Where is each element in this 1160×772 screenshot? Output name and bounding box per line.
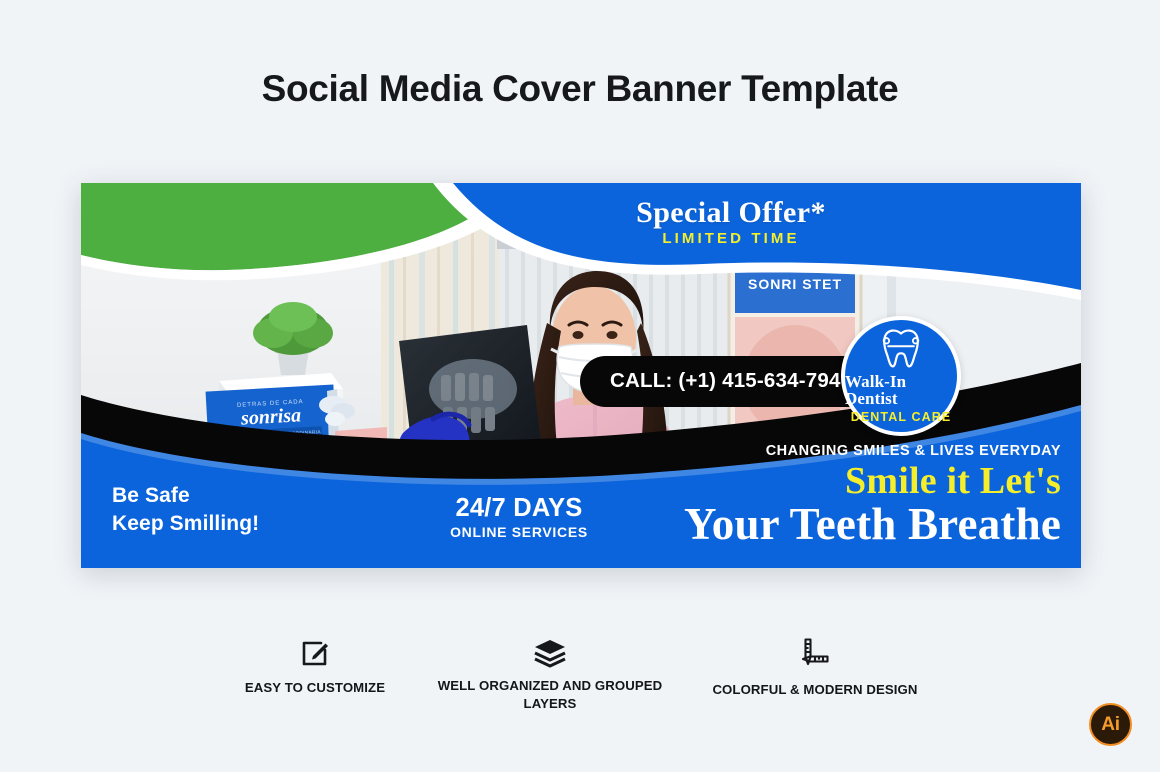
be-safe-block: Be Safe Keep Smilling! [112, 482, 259, 539]
svg-text:SONRI STET: SONRI STET [748, 276, 842, 292]
edit-pencil-icon [300, 636, 330, 670]
page-title: Social Media Cover Banner Template [0, 68, 1160, 110]
headline-kicker: CHANGING SMILES & LIVES EVERYDAY [621, 443, 1061, 459]
feature-label: WELL ORGANIZED AND GROUPED LAYERS [430, 677, 670, 713]
feature-label: EASY TO CUSTOMIZE [245, 679, 385, 697]
service-hours-main: 24/7 DAYS [444, 494, 594, 523]
be-safe-line-2: Keep Smilling! [112, 510, 259, 538]
page-root: Social Media Cover Banner Template [0, 0, 1160, 772]
adobe-illustrator-badge[interactable]: Ai [1089, 703, 1132, 746]
ruler-pencil-icon [800, 636, 830, 668]
headline-line-white: Your Teeth Breathe [621, 502, 1061, 548]
feature-item-grouped-layers: WELL ORGANIZED AND GROUPED LAYERS [430, 636, 670, 713]
call-phone-pill[interactable]: CALL: (+1) 415-634-7947 [580, 356, 882, 407]
logo-subtitle: DENTAL CARE [851, 410, 952, 424]
be-safe-line-1: Be Safe [112, 482, 259, 510]
headline-line-yellow: Smile it Let's [621, 462, 1061, 502]
service-hours-block: 24/7 DAYS ONLINE SERVICES [444, 494, 594, 540]
brand-logo-badge[interactable]: Walk-In Dentist DENTAL CARE [841, 316, 961, 436]
tooth-icon [879, 328, 923, 370]
svg-text:sonrisa: sonrisa [239, 404, 301, 429]
feature-label: COLORFUL & MODERN DESIGN [712, 681, 917, 699]
headline-block: CHANGING SMILES & LIVES EVERYDAY Smile i… [621, 443, 1061, 547]
service-hours-sub: ONLINE SERVICES [444, 524, 594, 540]
logo-name: Walk-In Dentist [845, 373, 957, 407]
feature-item-easy-to-customize: EASY TO CUSTOMIZE [200, 636, 430, 697]
feature-item-modern-design: COLORFUL & MODERN DESIGN [670, 636, 960, 699]
layers-icon [533, 636, 567, 670]
feature-list: EASY TO CUSTOMIZE WELL ORGANIZED AND GRO… [200, 636, 960, 713]
banner-preview[interactable]: SONRI STET [81, 183, 1081, 568]
